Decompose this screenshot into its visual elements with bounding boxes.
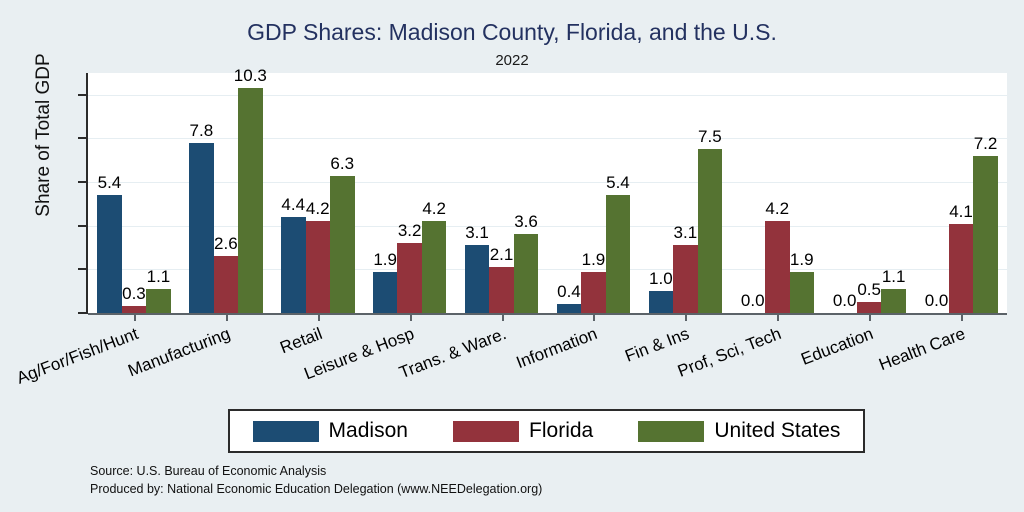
x-axis-category-label: Leisure & Hosp	[260, 324, 417, 400]
x-axis-tick-mark	[777, 314, 779, 321]
bar	[373, 272, 398, 313]
bar-value-label: 1.1	[871, 267, 916, 287]
bar	[146, 289, 171, 313]
bar	[281, 217, 306, 313]
x-axis-category-label: Retail	[168, 324, 325, 400]
bar-group: 0.00.51.1	[832, 73, 906, 313]
bar	[557, 304, 582, 313]
bar-group: 4.44.26.3	[281, 73, 355, 313]
bar-group: 0.41.95.4	[557, 73, 631, 313]
bar	[973, 156, 998, 313]
x-axis-tick-mark	[961, 314, 963, 321]
x-axis-category-label: Health Care	[812, 324, 969, 400]
x-axis-category-label: Ag/For/Fish/Hunt	[0, 324, 141, 400]
bar	[698, 149, 723, 313]
y-axis-title: Share of Total GDP	[33, 5, 55, 265]
bar	[649, 291, 674, 313]
bar	[673, 245, 698, 313]
legend: MadisonFloridaUnited States	[228, 409, 865, 453]
bar-group: 0.04.21.9	[741, 73, 815, 313]
bar-group: 7.82.610.3	[189, 73, 263, 313]
bar-group: 5.40.31.1	[97, 73, 171, 313]
x-axis-tick-mark	[869, 314, 871, 321]
bar-value-label: 4.2	[412, 199, 457, 219]
chart-subtitle-year: 2022	[0, 52, 1024, 69]
x-axis-category-label: Prof, Sci, Tech	[628, 324, 785, 400]
x-axis-category-label: Manufacturing	[76, 324, 233, 400]
bar	[514, 234, 539, 313]
legend-label: Madison	[329, 419, 408, 443]
x-axis-tick-mark	[410, 314, 412, 321]
y-axis-tick-mark	[78, 312, 87, 314]
bar-value-label: 5.4	[87, 173, 132, 193]
bar-group: 1.93.24.2	[373, 73, 447, 313]
x-axis-tick-mark	[593, 314, 595, 321]
legend-item[interactable]: Florida	[453, 419, 593, 443]
bar	[881, 289, 906, 313]
bar-value-label: 10.3	[228, 66, 273, 86]
bar	[581, 272, 606, 313]
y-axis-tick-mark	[78, 268, 87, 270]
bar-value-label: 4.2	[755, 199, 800, 219]
y-axis-tick-mark	[78, 137, 87, 139]
bar	[306, 221, 331, 313]
bar	[330, 176, 355, 313]
bar	[189, 143, 214, 313]
bar-value-label: 7.8	[179, 121, 224, 141]
footer-producer: Produced by: National Economic Education…	[90, 480, 542, 498]
gdp-shares-bar-chart: GDP Shares: Madison County, Florida, and…	[0, 0, 1024, 512]
x-axis-category-label: Information	[444, 324, 601, 400]
bar-value-label: 7.2	[963, 134, 1008, 154]
legend-swatch	[253, 421, 319, 442]
bar	[857, 302, 882, 313]
y-axis-tick-mark	[78, 225, 87, 227]
bar	[397, 243, 422, 313]
bar	[949, 224, 974, 313]
legend-item[interactable]: United States	[638, 419, 840, 443]
legend-swatch	[453, 421, 519, 442]
x-axis-tick-mark	[134, 314, 136, 321]
legend-swatch	[638, 421, 704, 442]
bar	[238, 88, 263, 313]
plot-area: 5.40.31.17.82.610.34.44.26.31.93.24.23.1…	[88, 73, 1007, 313]
footer-source: Source: U.S. Bureau of Economic Analysis	[90, 462, 542, 480]
legend-item[interactable]: Madison	[253, 419, 408, 443]
y-axis-tick-mark	[78, 181, 87, 183]
x-axis-tick-mark	[502, 314, 504, 321]
bar-value-label: 3.6	[504, 212, 549, 232]
bar	[214, 256, 239, 313]
x-axis-tick-mark	[226, 314, 228, 321]
bar-group: 1.03.17.5	[649, 73, 723, 313]
legend-label: Florida	[529, 419, 593, 443]
y-axis-tick-mark	[78, 94, 87, 96]
bar-value-label: 5.4	[596, 173, 641, 193]
bar-value-label: 3.1	[455, 223, 500, 243]
bar	[790, 272, 815, 313]
bar-value-label: 7.5	[688, 127, 733, 147]
y-axis-line	[86, 73, 88, 314]
bar-group: 0.04.17.2	[924, 73, 998, 313]
bar	[422, 221, 447, 313]
bar-value-label: 1.9	[780, 250, 825, 270]
bar-value-label: 1.1	[136, 267, 181, 287]
chart-title: GDP Shares: Madison County, Florida, and…	[0, 19, 1024, 46]
x-axis-category-label: Trans. & Ware.	[352, 324, 509, 400]
footer-notes: Source: U.S. Bureau of Economic Analysis…	[90, 462, 542, 498]
bar-value-label: 6.3	[320, 154, 365, 174]
x-axis-tick-mark	[685, 314, 687, 321]
bar	[489, 267, 514, 313]
bar	[606, 195, 631, 313]
x-axis-category-label: Education	[720, 324, 877, 400]
legend-label: United States	[714, 419, 840, 443]
x-axis-category-label: Fin & Ins	[536, 324, 693, 400]
bar-group: 3.12.13.6	[465, 73, 539, 313]
x-axis-tick-mark	[318, 314, 320, 321]
